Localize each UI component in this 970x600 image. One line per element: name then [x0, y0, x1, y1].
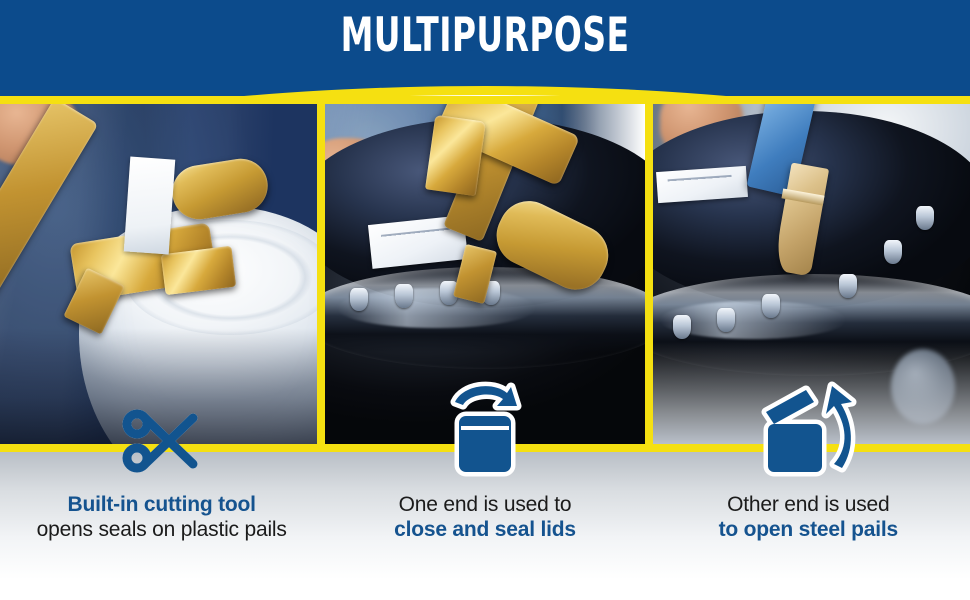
caption-line-secondary: opens seals on plastic pails: [0, 517, 323, 542]
ring-clip: [395, 284, 413, 308]
page-title: MULTIPURPOSE: [107, 8, 864, 64]
ring-clip: [916, 206, 934, 230]
icon-slot-open-steel: [646, 358, 969, 478]
caption-row: Built-in cutting tool opens seals on pla…: [0, 492, 970, 542]
icon-slot-close-seal: [323, 358, 646, 478]
ring-clip: [673, 315, 691, 339]
icon-slot-cutting-tool: [0, 358, 323, 478]
caption-line-primary: Built-in cutting tool: [0, 492, 323, 517]
closed-pail-with-arrow-icon: [437, 372, 533, 478]
caption-line-secondary: close and seal lids: [323, 517, 646, 542]
plastic-seal-strip: [124, 157, 175, 255]
caption-open-steel: Other end is used to open steel pails: [647, 492, 970, 542]
caption-line-primary: Other end is used: [647, 492, 970, 517]
ring-clip: [839, 274, 857, 298]
product-feature-banner: MULTIPURPOSE: [0, 0, 970, 600]
ring-clip: [762, 294, 780, 318]
label-text-lines: [380, 228, 451, 253]
ring-clip: [717, 308, 735, 332]
label-text-lines: [667, 174, 732, 191]
scissors-icon: [119, 400, 205, 478]
caption-line-primary: One end is used to: [323, 492, 646, 517]
pail-label: [656, 165, 748, 202]
caption-close-seal: One end is used to close and seal lids: [323, 492, 646, 542]
ring-clip: [350, 288, 368, 312]
open-pail-with-arrow-icon: [754, 372, 862, 478]
caption-line-secondary: to open steel pails: [647, 517, 970, 542]
ring-clip: [884, 240, 902, 264]
caption-cutting-tool: Built-in cutting tool opens seals on pla…: [0, 492, 323, 542]
